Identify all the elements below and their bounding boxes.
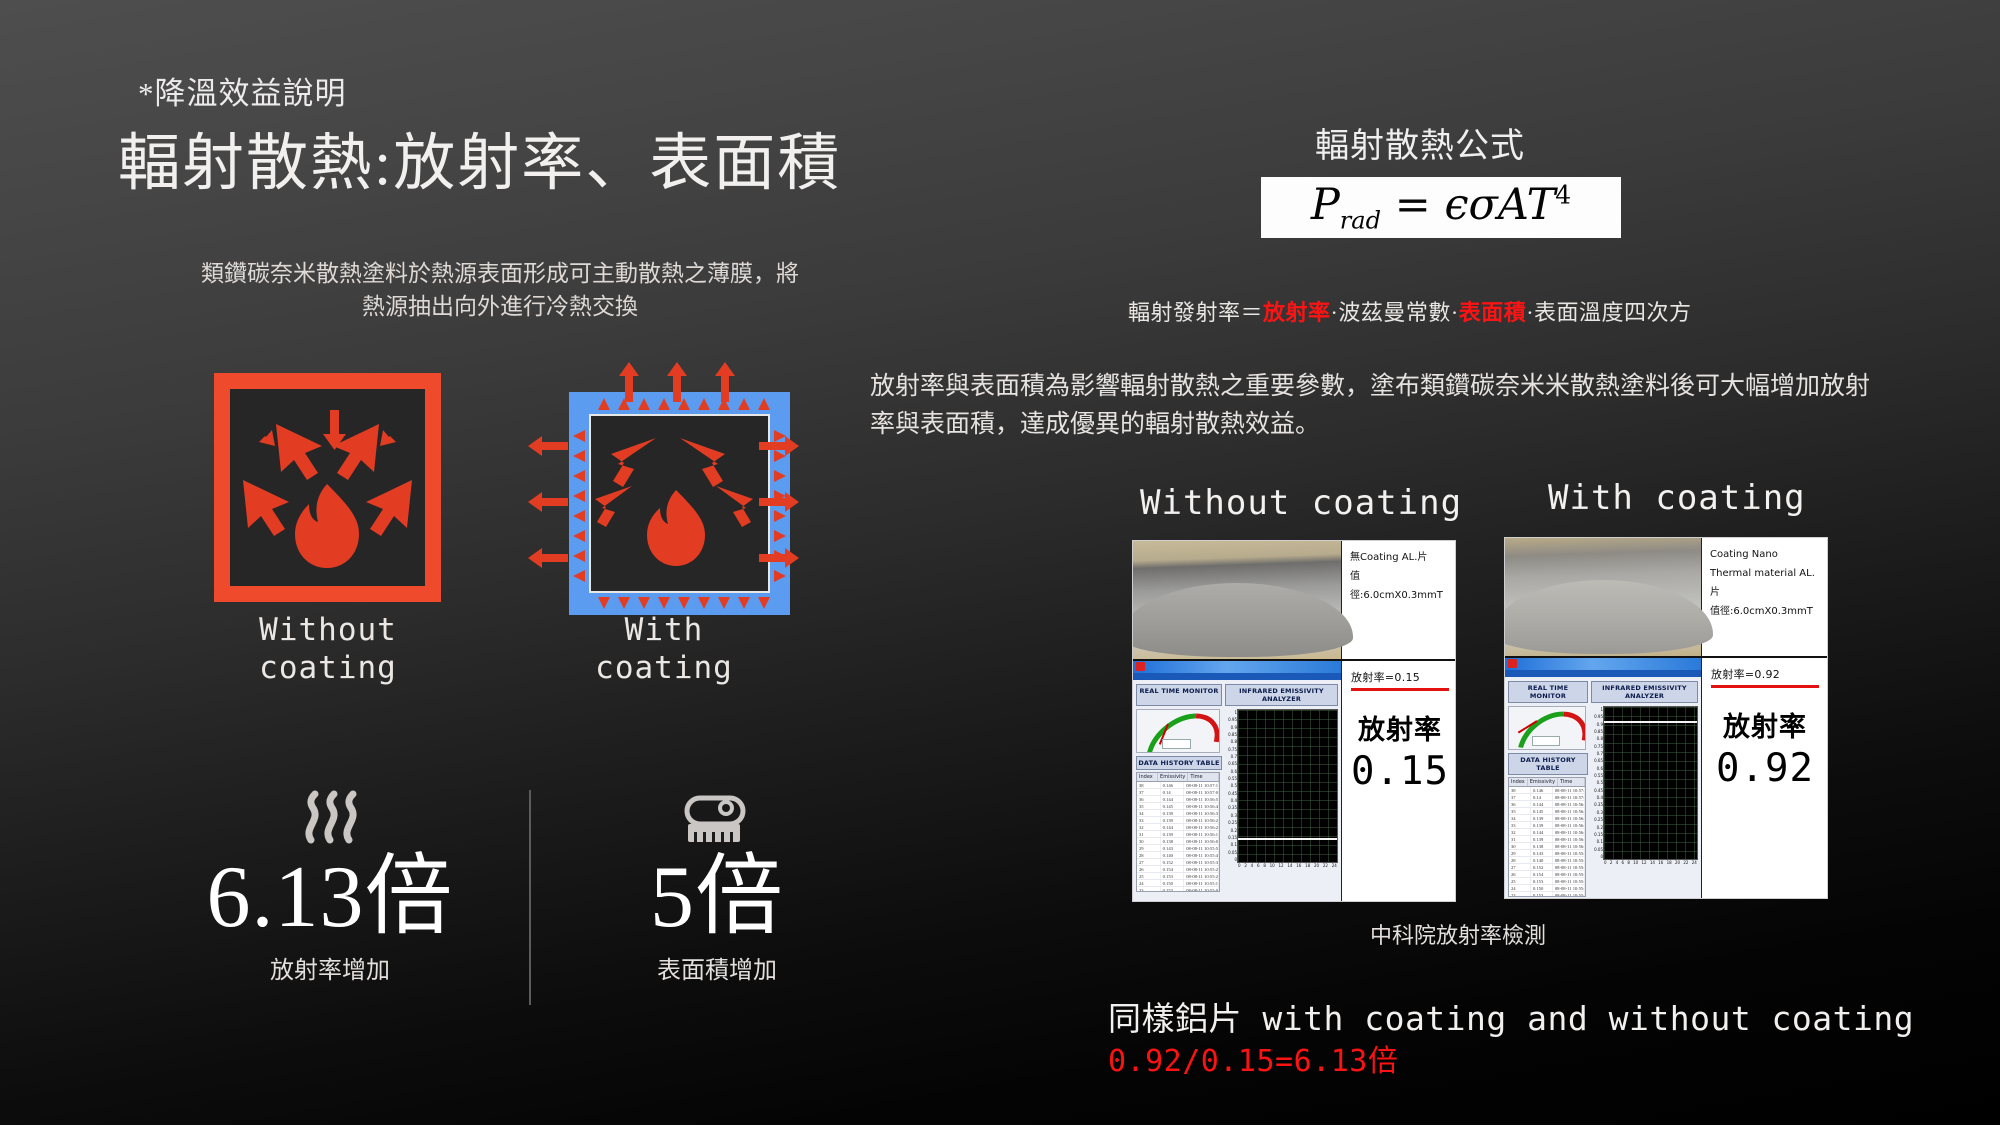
y-tick-label: 0.15 [1594,832,1603,837]
legend-term-temp: 表面溫度四次方 [1534,300,1692,325]
chart-grid [1604,707,1697,859]
table-cell: 0.139 [1531,822,1553,828]
table-cell: 08-08-11 10:56:54 [1184,796,1219,802]
stat-divider [529,790,531,1005]
stat-caption: 表面積增加 [592,950,842,985]
table-cell: 37 [1137,789,1161,795]
table-row[interactable]: 320.14408-08-11 10:56:20 [1509,829,1585,836]
readout-underline [1711,685,1819,688]
x-tick-label: 18 [1305,863,1310,872]
card-mid: REAL TIME MONITOR INFRARED EMISSIVITY AN… [1133,661,1455,902]
table-cell: 32 [1509,829,1531,835]
table-cell: 23 [1509,892,1531,897]
x-tick-label: 14 [1287,863,1292,872]
table-row[interactable]: 360.14408-08-11 10:56:54 [1137,796,1219,803]
x-tick-label: 8 [1627,860,1630,869]
y-tick-label: 0.7 [1231,754,1237,759]
table-row[interactable]: 240.15008-08-11 10:55:12 [1509,885,1585,892]
table-cell: 08-08-11 10:56:03 [1184,838,1219,844]
card-top: Coating Nano Thermal material AL. 片 值徑:6… [1505,538,1827,658]
emissivity-readout-panel: 放射率=0.15 放射率 0.15 [1341,661,1456,902]
meta-line-1: 無Coating AL.片 [1350,548,1449,567]
y-tick-label: 0.5 [1597,780,1603,785]
table-cell: 0.144 [1161,796,1185,802]
table-row[interactable]: 270.15208-08-11 10:55:37 [1137,859,1219,866]
emissivity-software-window: REAL TIME MONITOR INFRARED EMISSIVITY AN… [1505,658,1701,899]
y-tick-label: 0.3 [1231,813,1237,818]
table-cell: 08-08-11 10:55:54 [1184,845,1219,851]
stat-caption: 放射率增加 [190,950,470,985]
without-coating-label: Without coating [173,612,483,688]
table-row[interactable]: 250.15308-08-11 10:55:20 [1509,878,1585,885]
table-cell: 32 [1137,824,1161,830]
left-pane: DATA HISTORY TABLE Index Emissivity Time… [1508,706,1586,897]
sample-photo-uncoated [1133,541,1341,659]
x-tick-label: 2 [1244,863,1247,872]
table-cell: 08-08-11 10:55:37 [1553,864,1585,870]
software-body: REAL TIME MONITOR INFRARED EMISSIVITY AN… [1133,680,1341,902]
table-cell: 36 [1137,796,1161,802]
y-tick-label: 0.9 [1231,725,1237,730]
legend-prefix: 輻射發射率＝ [1128,300,1263,325]
legend-term-area: 表面積 [1459,300,1527,325]
table-cell: 26 [1509,871,1531,877]
table-cell: 35 [1137,803,1161,809]
table-cell: 08-08-11 10:56:03 [1553,843,1585,849]
table-cell: 0.153 [1161,873,1185,879]
col-index: Index [1137,773,1158,781]
readout-equation: 放射率=0.92 [1711,666,1819,682]
window-subtitlebar [1133,673,1341,680]
col-emissivity: Emissivity [1528,778,1558,786]
table-cell: 08-08-11 10:56:20 [1184,824,1219,830]
table-row[interactable]: 360.14408-08-11 10:56:54 [1509,801,1585,808]
table-row[interactable]: 290.14308-08-11 10:55:54 [1137,845,1219,852]
table-cell: 08-08-11 10:55:03 [1184,887,1219,892]
table-cell: 30 [1509,843,1531,849]
y-tick-label: 0.55 [1228,776,1237,781]
table-cell: 0.139 [1161,817,1185,823]
x-tick-label: 22 [1323,863,1328,872]
y-tick-label: 0.15 [1228,835,1237,840]
x-tick-label: 8 [1263,863,1266,872]
emissivity-chart: 10.950.90.850.80.750.70.650.60.550.50.45… [1603,706,1698,860]
card-mid: REAL TIME MONITOR INFRARED EMISSIVITY AN… [1505,658,1827,899]
y-tick-label: 0.9 [1597,722,1603,727]
x-tick-label: 24 [1332,863,1337,872]
table-row[interactable]: 320.14408-08-11 10:56:20 [1137,824,1219,831]
meta-line-3: 片 [1710,583,1821,602]
table-body: 380.14608-08-11 10:57:11370.1408-08-11 1… [1137,782,1219,892]
formula-paragraph: 放射率與表面積為影響輻射散熱之重要參數，塗布類鑽碳奈米米散熱塗料後可大幅增加放射… [870,368,1880,443]
y-tick-label: 0.95 [1228,717,1237,722]
table-cell: 0.139 [1531,815,1553,821]
page-title: 輻射散熱:放射率、表面積 [118,112,841,202]
label-line-2: coating [504,650,824,688]
panel-real-time-monitor[interactable]: REAL TIME MONITOR [1136,684,1222,706]
emissivity-chart: 10.950.90.850.80.750.70.650.60.550.50.45… [1237,709,1338,863]
sample-meta: 無Coating AL.片 值徑:6.0cmX0.3mmT [1341,541,1455,659]
gauge-readout [1162,739,1192,749]
col-time: Time [1558,778,1585,786]
y-tick-label: 0.45 [1594,788,1603,793]
panel-data-history-table[interactable]: DATA HISTORY TABLE [1508,753,1588,775]
table-row[interactable]: 350.14508-08-11 10:56:45 [1509,808,1585,815]
emissivity-readout-panel: 放射率=0.92 放射率 0.92 [1701,658,1827,899]
formula-box: Prad = ϵσAT4 [1261,177,1621,238]
y-tick-label: 0.75 [1594,744,1603,749]
panel-infrared-analyzer[interactable]: INFRARED EMISSIVITY ANALYZER [1225,684,1338,706]
without-coating-illustration [213,372,442,603]
table-cell: 08-08-11 10:56:28 [1184,817,1219,823]
sample-photo-coated [1505,538,1701,656]
table-cell: 0.140 [1161,852,1185,858]
table-cell: 0.152 [1161,859,1185,865]
table-cell: 08-08-11 10:56:28 [1553,822,1585,828]
table-row[interactable]: 340.13908-08-11 10:56:37 [1509,815,1585,822]
chart-pane: 10.950.90.850.80.750.70.650.60.550.50.45… [1237,709,1338,892]
emissivity-software-window: REAL TIME MONITOR INFRARED EMISSIVITY AN… [1133,661,1341,902]
y-tick-label: 0.65 [1228,761,1237,766]
y-tick-label: 0.6 [1597,766,1603,771]
stat-value: 5倍 [592,852,842,944]
kicker-text: *降溫效益說明 [138,68,347,113]
table-cell: 0.150 [1531,885,1553,891]
table-cell: 23 [1137,887,1161,892]
y-tick-label: 0.65 [1594,758,1603,763]
panel-real-time-monitor[interactable]: REAL TIME MONITOR [1508,681,1588,703]
chart-trace [1604,721,1697,723]
table-cell: 0.139 [1161,831,1185,837]
col-emissivity: Emissivity [1158,773,1188,781]
evidence-right-title: With coating [1548,478,1806,518]
table-cell: 0.153 [1531,878,1553,884]
table-cell: 34 [1509,815,1531,821]
meta-line-1: Coating Nano [1710,545,1821,564]
legend-term-boltzmann: 波茲曼常數 [1338,300,1451,325]
formula-title: 輻射散熱公式 [1315,118,1525,167]
with-coating-illustration [514,340,814,635]
table-cell: 08-08-11 10:55:54 [1553,850,1585,856]
x-tick-label: 20 [1314,863,1319,872]
table-cell: 0.144 [1161,824,1185,830]
table-row[interactable]: 330.13908-08-11 10:56:28 [1137,817,1219,824]
data-history-table[interactable]: Index Emissivity Time 380.14608-08-11 10… [1136,772,1220,892]
panel-data-history-table[interactable]: DATA HISTORY TABLE [1136,756,1222,770]
table-cell: 08-08-11 10:55:12 [1553,885,1585,891]
table-row[interactable]: 300.13808-08-11 10:56:03 [1137,838,1219,845]
left-pane: DATA HISTORY TABLE Index Emissivity Time… [1136,709,1220,892]
y-tick-label: 0.85 [1594,729,1603,734]
table-row[interactable]: 350.14508-08-11 10:56:45 [1137,803,1219,810]
table-cell: 28 [1509,857,1531,863]
table-cell: 24 [1137,880,1161,886]
x-tick-label: 0 [1604,860,1607,869]
x-tick-label: 2 [1610,860,1613,869]
table-cell: 08-08-11 10:56:45 [1184,803,1219,809]
table-cell: 08-08-11 10:57:11 [1184,782,1219,788]
legend-sep-2: · [1451,300,1459,325]
x-tick-label: 16 [1296,863,1301,872]
table-cell: 0.154 [1161,866,1185,872]
table-cell: 26 [1137,866,1161,872]
table-cell: 29 [1137,845,1161,851]
label-line-1: Without [173,612,483,650]
label-line-2: coating [173,650,483,688]
y-tick-label: 0.2 [1231,828,1237,833]
bottom-line-1: 同樣鋁片 with coating and without coating [1108,992,1914,1040]
chart-pane: 10.950.90.850.80.750.70.650.60.550.50.45… [1603,706,1698,897]
app-logo-icon [1136,662,1145,671]
table-cell: 08-08-11 10:55:29 [1553,871,1585,877]
table-cell: 27 [1137,859,1161,865]
legend-term-emissivity: 放射率 [1263,300,1331,325]
table-cell: 0.146 [1161,782,1185,788]
table-cell: 0.153 [1531,892,1553,897]
x-tick-label: 0 [1238,863,1241,872]
table-cell: 08-08-11 10:55:20 [1553,878,1585,884]
chart-x-axis: 024681012141618202224 [1604,860,1697,869]
x-tick-label: 20 [1675,860,1680,869]
table-cell: 08-08-11 10:56:54 [1553,801,1585,807]
chart-trace [1238,838,1337,840]
with-coating-label: With coating [504,612,824,688]
stat-surface-area: 5倍 表面積增加 [592,788,842,985]
x-tick-label: 4 [1616,860,1619,869]
sample-meta: Coating Nano Thermal material AL. 片 值徑:6… [1701,538,1827,656]
table-cell: 38 [1137,782,1161,788]
table-body: 380.14608-08-11 10:57:11370.1408-08-11 1… [1509,787,1585,897]
table-cell: 0.138 [1161,838,1185,844]
y-tick-label: 0.1 [1231,842,1237,847]
readout-value: 0.92 [1711,746,1819,791]
table-cell: 08-08-11 10:55:37 [1184,859,1219,865]
window-titlebar[interactable] [1133,661,1341,673]
col-index: Index [1509,778,1528,786]
x-tick-label: 4 [1251,863,1254,872]
table-cell: 08-08-11 10:57:11 [1553,787,1585,793]
table-cell: 28 [1137,852,1161,858]
x-tick-label: 22 [1683,860,1688,869]
table-row[interactable]: 380.14608-08-11 10:57:11 [1509,787,1585,794]
y-tick-label: 1 [1234,710,1237,715]
slide-root: *降溫效益說明 輻射散熱:放射率、表面積 類鑽碳奈米散熱塗料於熱源表面形成可主動… [0,0,2000,1125]
table-cell: 0.140 [1531,857,1553,863]
y-tick-label: 0.4 [1597,795,1603,800]
meta-line-4: 值徑:6.0cmX0.3mmT [1710,602,1821,621]
y-tick-label: 0.35 [1228,805,1237,810]
y-tick-label: 0 [1234,857,1237,862]
x-tick-label: 10 [1633,860,1638,869]
table-cell: 25 [1509,878,1531,884]
table-row[interactable]: 340.13908-08-11 10:56:37 [1137,810,1219,817]
table-row[interactable]: 260.15408-08-11 10:55:29 [1137,866,1219,873]
table-cell: 0.139 [1531,836,1553,842]
table-cell: 30 [1137,838,1161,844]
readout-value: 0.15 [1351,749,1449,794]
chart-y-axis: 10.950.90.850.80.750.70.650.60.550.50.45… [1588,707,1603,859]
y-tick-label: 0.8 [1231,739,1237,744]
y-tick-label: 0.3 [1597,810,1603,815]
y-tick-label: 0.35 [1594,802,1603,807]
bottom-line-2: 0.92/0.15=6.13倍 [1108,1036,1398,1080]
x-tick-label: 16 [1658,860,1663,869]
y-tick-label: 0.85 [1228,732,1237,737]
table-row[interactable]: 310.13908-08-11 10:56:11 [1509,836,1585,843]
software-body: REAL TIME MONITOR INFRARED EMISSIVITY AN… [1505,677,1701,899]
readout-label: 放射率 [1711,705,1819,744]
y-tick-label: 0.75 [1228,747,1237,752]
y-tick-label: 0.95 [1594,714,1603,719]
y-tick-label: 0.4 [1231,798,1237,803]
y-tick-label: 0.5 [1231,783,1237,788]
table-cell: 08-08-11 10:56:37 [1184,810,1219,816]
table-cell: 25 [1137,873,1161,879]
emissivity-gauge [1136,709,1220,753]
chart-y-axis: 10.950.90.850.80.750.70.650.60.550.50.45… [1222,710,1237,862]
table-cell: 34 [1137,810,1161,816]
table-cell: 24 [1509,885,1531,891]
x-tick-label: 12 [1279,863,1284,872]
table-row[interactable]: 260.15408-08-11 10:55:29 [1509,871,1585,878]
table-cell: 31 [1137,831,1161,837]
y-tick-label: 0.45 [1228,791,1237,796]
stat-emissivity: 6.13倍 放射率增加 [190,788,470,985]
legend-sep-3: · [1526,300,1534,325]
table-cell: 08-08-11 10:56:45 [1553,808,1585,814]
formula-legend: 輻射發射率＝放射率·波茲曼常數·表面積·表面溫度四次方 [1128,295,1692,327]
table-cell: 08-08-11 10:56:11 [1184,831,1219,837]
col-time: Time [1188,773,1219,781]
y-tick-label: 0.05 [1228,850,1237,855]
y-tick-label: 0.6 [1231,769,1237,774]
table-cell: 0.143 [1531,850,1553,856]
y-tick-label: 0.25 [1594,817,1603,822]
meta-line-2: Thermal material AL. [1710,564,1821,583]
table-row[interactable]: 370.1408-08-11 10:57:02 [1137,789,1219,796]
table-cell: 0.143 [1161,845,1185,851]
table-cell: 0.154 [1531,871,1553,877]
table-cell: 35 [1509,808,1531,814]
table-cell: 0.139 [1161,810,1185,816]
table-row[interactable]: 310.13908-08-11 10:56:11 [1137,831,1219,838]
table-row[interactable]: 250.15308-08-11 10:55:20 [1137,873,1219,880]
evidence-caption: 中科院放射率檢測 [1370,918,1546,950]
table-cell: 31 [1509,836,1531,842]
x-tick-label: 18 [1667,860,1672,869]
readout-label: 放射率 [1351,708,1449,747]
evidence-left-title: Without coating [1140,483,1462,523]
lead-paragraph: 類鑽碳奈米散熱塗料於熱源表面形成可主動散熱之薄膜，將熱源抽出向外進行冷熱交換 [200,258,800,323]
table-cell: 0.153 [1161,887,1185,892]
table-cell: 08-08-11 10:56:20 [1553,829,1585,835]
table-header-row: Index Emissivity Time [1509,778,1585,787]
formula-expression: Prad = ϵσAT4 [1311,180,1571,235]
table-row[interactable]: 300.13808-08-11 10:56:03 [1509,843,1585,850]
emissivity-gauge [1508,706,1586,750]
table-cell: 37 [1509,794,1531,800]
stat-value: 6.13倍 [190,852,470,944]
table-cell: 33 [1509,822,1531,828]
x-tick-label: 14 [1650,860,1655,869]
table-cell: 08-08-11 10:55:03 [1553,892,1585,897]
heat-waves-icon [190,788,470,846]
meta-line-4: 值徑:6.0cmX0.3mmT [1350,567,1449,605]
x-tick-label: 6 [1257,863,1260,872]
chart-x-axis: 024681012141618202224 [1238,863,1337,872]
table-cell: 33 [1137,817,1161,823]
y-tick-label: 0.25 [1228,820,1237,825]
table-cell: 0.144 [1531,829,1553,835]
card-top: 無Coating AL.片 值徑:6.0cmX0.3mmT [1133,541,1455,661]
table-row[interactable]: 230.15308-08-11 10:55:03 [1137,887,1219,892]
table-row[interactable]: 280.14008-08-11 10:55:46 [1509,857,1585,864]
table-cell: 08-08-11 10:56:11 [1553,836,1585,842]
label-line-1: With [504,612,824,650]
y-tick-label: 0.05 [1594,847,1603,852]
table-row[interactable]: 240.15008-08-11 10:55:12 [1137,880,1219,887]
table-cell: 29 [1509,850,1531,856]
table-header-row: Index Emissivity Time [1137,773,1219,782]
y-tick-label: 1 [1600,707,1603,712]
evidence-card-with-coating: Coating Nano Thermal material AL. 片 值徑:6… [1504,537,1828,899]
table-cell: 0.146 [1531,787,1553,793]
table-cell: 27 [1509,864,1531,870]
y-tick-label: 0.2 [1597,825,1603,830]
evidence-card-without-coating: 無Coating AL.片 值徑:6.0cmX0.3mmT REAL TIME … [1132,540,1456,902]
x-tick-label: 10 [1270,863,1275,872]
table-row[interactable]: 330.13908-08-11 10:56:28 [1509,822,1585,829]
table-cell: 08-08-11 10:57:02 [1184,789,1219,795]
table-row[interactable]: 380.14608-08-11 10:57:11 [1137,782,1219,789]
table-cell: 0.145 [1531,808,1553,814]
table-cell: 0.14 [1531,794,1553,800]
y-tick-label: 0.7 [1597,751,1603,756]
table-row[interactable]: 370.1408-08-11 10:57:02 [1509,794,1585,801]
diagram-with-coating: With coating [514,340,814,635]
table-cell: 08-08-11 10:55:20 [1184,873,1219,879]
x-tick-label: 24 [1692,860,1697,869]
table-cell: 0.144 [1531,801,1553,807]
table-cell: 08-08-11 10:55:29 [1184,866,1219,872]
diagram-without-coating: Without coating [213,372,442,603]
y-tick-label: 0 [1600,854,1603,859]
table-row[interactable]: 280.14008-08-11 10:55:46 [1137,852,1219,859]
table-row[interactable]: 290.14308-08-11 10:55:54 [1509,850,1585,857]
window-titlebar[interactable] [1505,658,1701,670]
data-history-table[interactable]: Index Emissivity Time 380.14608-08-11 10… [1508,777,1586,897]
table-cell: 0.14 [1161,789,1185,795]
x-tick-label: 6 [1621,860,1624,869]
table-cell: 08-08-11 10:55:12 [1184,880,1219,886]
table-cell: 0.150 [1161,880,1185,886]
panel-infrared-analyzer[interactable]: INFRARED EMISSIVITY ANALYZER [1591,681,1698,703]
table-row[interactable]: 270.15208-08-11 10:55:37 [1509,864,1585,871]
y-tick-label: 0.55 [1594,773,1603,778]
tape-measure-icon [592,788,842,846]
table-cell: 0.145 [1161,803,1185,809]
table-cell: 36 [1509,801,1531,807]
y-tick-label: 0.1 [1597,839,1603,844]
table-cell: 08-08-11 10:55:46 [1184,852,1219,858]
readout-equation: 放射率=0.15 [1351,669,1449,685]
window-subtitlebar [1505,670,1701,677]
table-cell: 38 [1509,787,1531,793]
table-cell: 0.152 [1531,864,1553,870]
table-cell: 08-08-11 10:57:02 [1553,794,1585,800]
gauge-readout [1532,736,1560,746]
table-row[interactable]: 230.15308-08-11 10:55:03 [1509,892,1585,897]
